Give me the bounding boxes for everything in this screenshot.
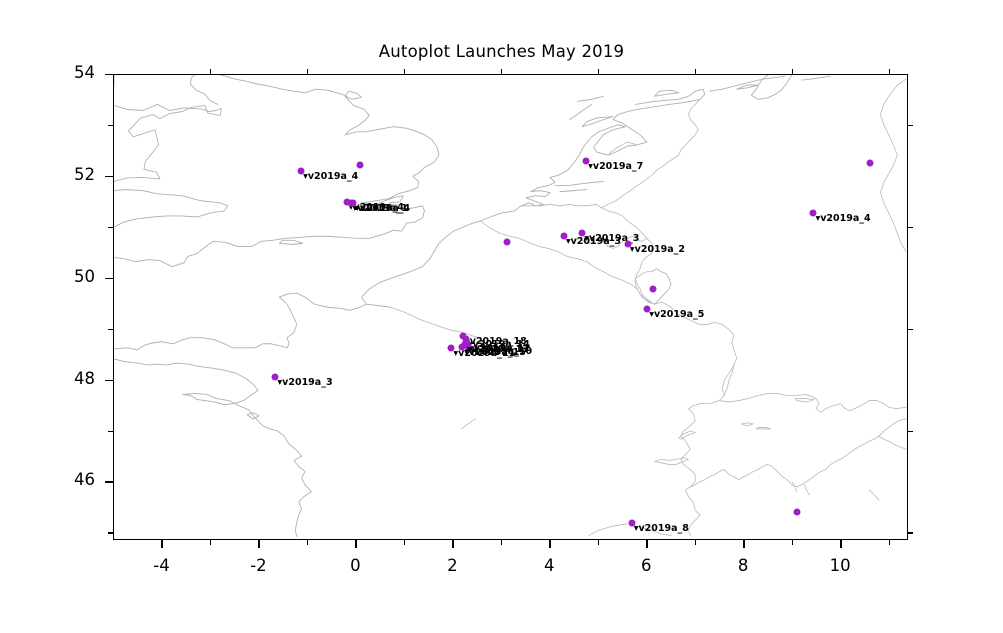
data-point-label: ▾v2019a_7	[588, 162, 643, 172]
data-point	[793, 508, 800, 515]
x-tick-label: -4	[136, 558, 186, 575]
tick-mark	[840, 540, 841, 548]
tick-mark	[307, 540, 308, 545]
chart-canvas: Autoplot Launches May 2019	[0, 0, 1003, 633]
tick-mark	[105, 176, 113, 177]
tick-mark	[889, 540, 890, 545]
tick-mark	[108, 431, 113, 432]
data-point	[357, 161, 364, 168]
tick-mark	[598, 69, 599, 74]
tick-mark	[908, 431, 913, 432]
tick-mark	[307, 69, 308, 74]
data-point	[649, 285, 656, 292]
tick-mark	[404, 540, 405, 545]
tick-mark	[210, 540, 211, 545]
x-tick-label: 0	[330, 558, 380, 575]
y-tick-label: 52	[51, 167, 95, 184]
data-point	[503, 239, 510, 246]
tick-mark	[908, 227, 913, 228]
tick-mark	[695, 540, 696, 545]
tick-mark	[105, 380, 113, 381]
tick-mark	[161, 540, 162, 548]
tick-mark	[792, 540, 793, 545]
x-tick-label: 4	[524, 558, 574, 575]
x-tick-label: -2	[233, 558, 283, 575]
x-tick-label: 2	[427, 558, 477, 575]
y-tick-label: 50	[51, 269, 95, 286]
data-point	[867, 159, 874, 166]
x-tick-label: 8	[718, 558, 768, 575]
data-point-label: ▾v2019a_4	[303, 172, 358, 182]
tick-mark	[258, 540, 259, 548]
basemap-svg	[114, 75, 907, 539]
tick-mark	[908, 532, 913, 533]
tick-mark	[501, 69, 502, 74]
chart-title: Autoplot Launches May 2019	[0, 42, 1003, 61]
tick-mark	[908, 125, 913, 126]
tick-mark	[108, 227, 113, 228]
x-tick-label: 6	[621, 558, 671, 575]
tick-mark	[452, 540, 453, 548]
tick-mark	[695, 69, 696, 74]
tick-mark	[105, 278, 113, 279]
x-tick-label: 10	[815, 558, 865, 575]
tick-mark	[501, 540, 502, 545]
data-point-label: ▾v2019a_4	[815, 214, 870, 224]
tick-mark	[743, 540, 744, 548]
tick-mark	[108, 125, 113, 126]
y-tick-label: 54	[51, 65, 95, 82]
tick-mark	[108, 329, 113, 330]
data-point-label: ▾v2019a_5	[649, 310, 704, 320]
tick-mark	[646, 540, 647, 548]
y-tick-label: 46	[51, 472, 95, 489]
tick-mark	[792, 69, 793, 74]
tick-mark	[105, 481, 113, 482]
data-point-label: ▾v2019a_3	[277, 378, 332, 388]
data-point-label: ▾v2019a_15	[464, 348, 526, 358]
data-point-label: ▾v2019a_2	[630, 245, 685, 255]
tick-mark	[105, 74, 113, 75]
tick-mark	[549, 540, 550, 548]
data-point-label: ▾v2019a_8	[634, 524, 689, 534]
tick-mark	[908, 329, 913, 330]
y-tick-label: 48	[51, 371, 95, 388]
tick-mark	[889, 69, 890, 74]
tick-mark	[404, 69, 405, 74]
data-point-label: ▾v2019a_3	[584, 234, 639, 244]
coastline-group	[114, 75, 831, 536]
tick-mark	[108, 532, 113, 533]
data-point-label: ▾v2019a_4	[355, 204, 410, 214]
tick-mark	[355, 540, 356, 548]
tick-mark	[210, 69, 211, 74]
tick-mark	[598, 540, 599, 545]
plot-area	[113, 74, 908, 540]
